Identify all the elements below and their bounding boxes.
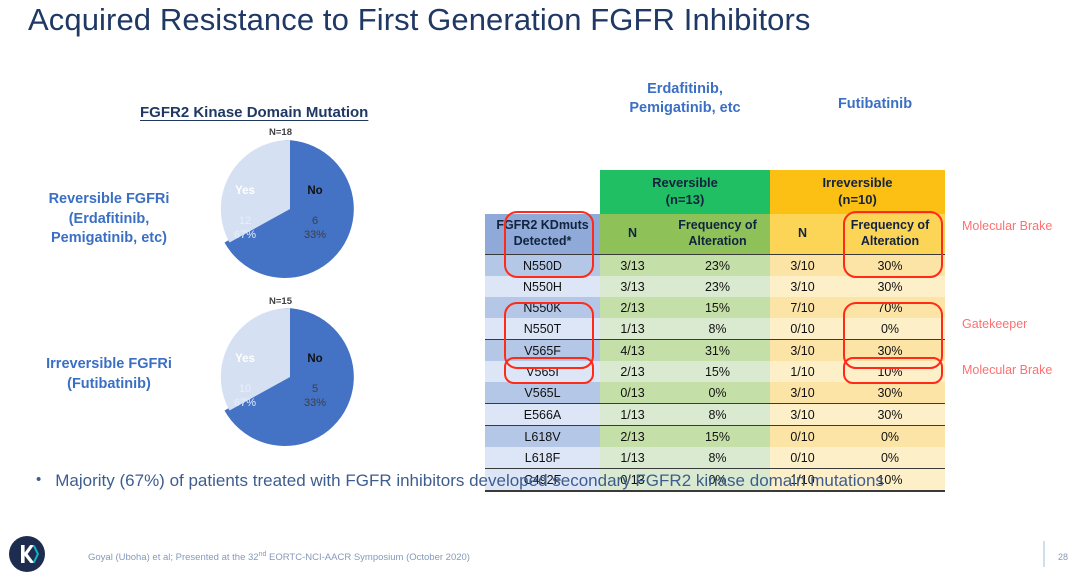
- cell-n-reversible: 2/13: [600, 426, 665, 448]
- pie-label-yes: Yes 10 67%: [205, 353, 285, 410]
- cell-freq-reversible: 31%: [665, 340, 770, 362]
- pie-group-label-reversible: Reversible FGFRi(Erdafitinib,Pemigatinib…: [14, 190, 204, 249]
- pie-chart-reversible: Yes 12 67% No 6 33%: [213, 137, 357, 281]
- table-row: L618F 1/13 8% 0/10 0%: [485, 447, 945, 469]
- table-row: N550T 1/13 8% 0/10 0%: [485, 318, 945, 340]
- cell-n-irreversible: 1/10: [770, 361, 835, 382]
- cell-n-irreversible: 0/10: [770, 426, 835, 448]
- summary-bullet: • Majority (67%) of patients treated wit…: [36, 470, 1046, 493]
- pie-group-label-irreversible: Irreversible FGFRi(Futibatinib): [14, 355, 204, 394]
- bullet-text: Majority (67%) of patients treated with …: [55, 470, 884, 493]
- cell-n-irreversible: 0/10: [770, 318, 835, 340]
- cell-freq-irreversible: 0%: [835, 447, 945, 469]
- cell-n-reversible: 4/13: [600, 340, 665, 362]
- table-row: V565F 4/13 31% 3/10 30%: [485, 340, 945, 362]
- cell-mutation: N550D: [485, 255, 600, 277]
- annotation-molecular-brake-n550: Molecular Brake: [962, 219, 1052, 233]
- cell-n-reversible: 1/13: [600, 318, 665, 340]
- table-row: V565I 2/13 15% 1/10 10%: [485, 361, 945, 382]
- cell-freq-reversible: 0%: [665, 382, 770, 404]
- column-header-n-irreversible: N: [770, 214, 835, 255]
- table-row: N550H 3/13 23% 3/10 30%: [485, 276, 945, 297]
- mutation-frequency-table: Reversible(n=13) Irreversible(n=10) FGFR…: [485, 170, 945, 492]
- pie-chart-irreversible: Yes 10 67% No 5 33%: [213, 305, 357, 449]
- cell-freq-reversible: 23%: [665, 276, 770, 297]
- cell-n-reversible: 1/13: [600, 447, 665, 469]
- bullet-marker: •: [36, 470, 41, 490]
- cell-mutation: N550T: [485, 318, 600, 340]
- cell-freq-reversible: 15%: [665, 297, 770, 318]
- pie-label-no: No 5 33%: [279, 353, 351, 410]
- column-header-freq-reversible: Frequency ofAlteration: [665, 214, 770, 255]
- cell-freq-irreversible: 0%: [835, 318, 945, 340]
- table-row: V565L 0/13 0% 3/10 30%: [485, 382, 945, 404]
- cell-freq-reversible: 23%: [665, 255, 770, 277]
- cell-n-irreversible: 3/10: [770, 276, 835, 297]
- cell-freq-reversible: 8%: [665, 447, 770, 469]
- cell-freq-reversible: 15%: [665, 361, 770, 382]
- cell-mutation: V565I: [485, 361, 600, 382]
- table-row: E566A 1/13 8% 3/10 30%: [485, 404, 945, 426]
- cell-mutation: V565F: [485, 340, 600, 362]
- cell-freq-reversible: 8%: [665, 404, 770, 426]
- cell-mutation: V565L: [485, 382, 600, 404]
- cell-freq-irreversible: 30%: [835, 255, 945, 277]
- cell-n-irreversible: 3/10: [770, 340, 835, 362]
- cell-freq-reversible: 8%: [665, 318, 770, 340]
- citation-post: EORTC-NCI-AACR Symposium (October 2020): [266, 552, 470, 563]
- table-column-header-row: FGFR2 KDmutsDetected* N Frequency ofAlte…: [485, 214, 945, 255]
- citation-pre: Goyal (Uboha) et al; Presented at the 32: [88, 552, 259, 563]
- logo-icon: [9, 536, 45, 572]
- column-header-freq-irreversible: Frequency ofAlteration: [835, 214, 945, 255]
- column-header-n-reversible: N: [600, 214, 665, 255]
- category-header-irreversible: Irreversible(n=10): [770, 170, 945, 214]
- citation-text: Goyal (Uboha) et al; Presented at the 32…: [88, 551, 470, 563]
- cell-n-irreversible: 0/10: [770, 447, 835, 469]
- table-row: N550D 3/13 23% 3/10 30%: [485, 255, 945, 277]
- annotation-gatekeeper: Gatekeeper: [962, 317, 1027, 331]
- cell-mutation: E566A: [485, 404, 600, 426]
- column-header-mutation: FGFR2 KDmutsDetected*: [485, 214, 600, 255]
- cell-freq-irreversible: 70%: [835, 297, 945, 318]
- cell-n-irreversible: 3/10: [770, 404, 835, 426]
- cell-mutation: N550K: [485, 297, 600, 318]
- cell-freq-irreversible: 30%: [835, 382, 945, 404]
- table-row: N550K 2/13 15% 7/10 70%: [485, 297, 945, 318]
- cell-mutation: N550H: [485, 276, 600, 297]
- cell-n-irreversible: 7/10: [770, 297, 835, 318]
- cell-n-reversible: 0/13: [600, 382, 665, 404]
- page-number: 28: [1058, 552, 1068, 562]
- cell-freq-irreversible: 30%: [835, 276, 945, 297]
- slide-canvas: Acquired Resistance to First Generation …: [0, 0, 1080, 578]
- cell-freq-irreversible: 10%: [835, 361, 945, 382]
- cell-freq-irreversible: 30%: [835, 404, 945, 426]
- cell-mutation: L618F: [485, 447, 600, 469]
- footer-divider: [1043, 541, 1045, 567]
- drug-header-irreversible: Futibatinib: [790, 95, 960, 114]
- cell-freq-irreversible: 0%: [835, 426, 945, 448]
- cell-n-reversible: 3/13: [600, 276, 665, 297]
- pie-label-yes: Yes 12 67%: [205, 185, 285, 242]
- category-header-reversible: Reversible(n=13): [600, 170, 770, 214]
- pie-label-no: No 6 33%: [279, 185, 351, 242]
- table-category-row: Reversible(n=13) Irreversible(n=10): [485, 170, 945, 214]
- cell-n-reversible: 1/13: [600, 404, 665, 426]
- cell-n-reversible: 2/13: [600, 297, 665, 318]
- cell-n-irreversible: 3/10: [770, 255, 835, 277]
- annotation-molecular-brake-e566a: Molecular Brake: [962, 363, 1052, 377]
- table-row: L618V 2/13 15% 0/10 0%: [485, 426, 945, 448]
- cell-freq-reversible: 15%: [665, 426, 770, 448]
- cell-n-reversible: 3/13: [600, 255, 665, 277]
- organization-logo: [9, 536, 45, 572]
- cell-n-irreversible: 3/10: [770, 382, 835, 404]
- cell-n-reversible: 2/13: [600, 361, 665, 382]
- drug-header-reversible: Erdafitinib,Pemigatinib, etc: [590, 80, 780, 118]
- page-title: Acquired Resistance to First Generation …: [28, 2, 1048, 38]
- cell-freq-irreversible: 30%: [835, 340, 945, 362]
- left-section-heading: FGFR2 Kinase Domain Mutation: [140, 104, 368, 121]
- cell-mutation: L618V: [485, 426, 600, 448]
